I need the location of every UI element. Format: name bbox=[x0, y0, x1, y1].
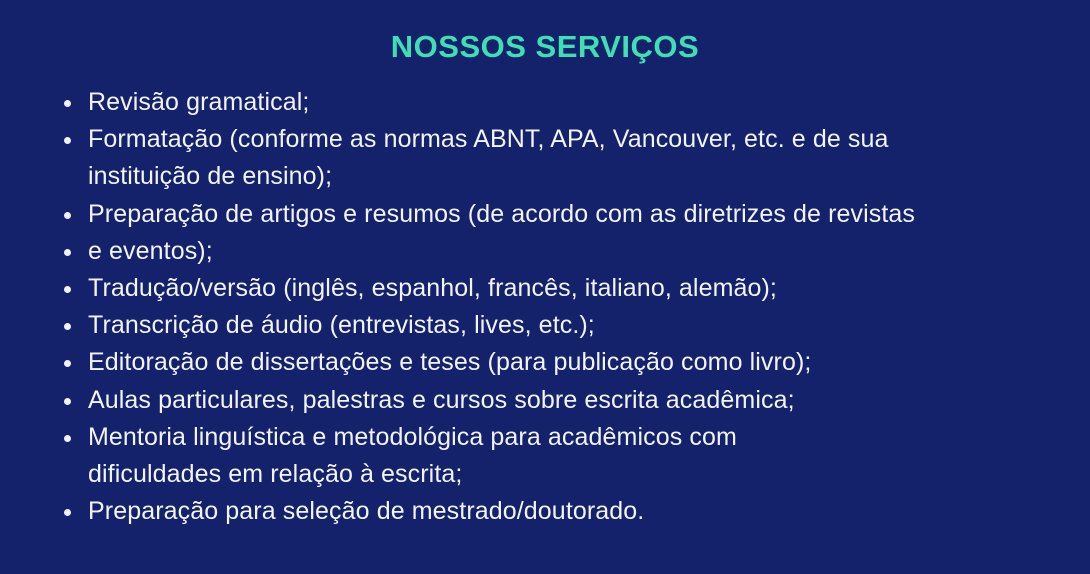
bullet-icon bbox=[64, 398, 71, 405]
bullet-icon bbox=[64, 435, 71, 442]
list-item-label: Editoração de dissertações e teses (para… bbox=[88, 344, 1066, 381]
services-list: Revisão gramatical; Formatação (conforme… bbox=[56, 84, 1066, 530]
list-item: Tradução/versão (inglês, espanhol, franc… bbox=[56, 270, 1066, 307]
list-item-label: Preparação para seleção de mestrado/dout… bbox=[88, 493, 1066, 530]
list-item-continuation: dificuldades em relação à escrita; bbox=[88, 456, 1066, 493]
bullet-icon bbox=[64, 137, 71, 144]
list-item-label: Revisão gramatical; bbox=[88, 84, 1066, 121]
list-item: Editoração de dissertações e teses (para… bbox=[56, 344, 1066, 381]
bullet-icon bbox=[64, 249, 71, 256]
bullet-icon bbox=[64, 509, 71, 516]
list-item-label: Formatação (conforme as normas ABNT, APA… bbox=[88, 121, 1066, 158]
list-item: Revisão gramatical; bbox=[56, 84, 1066, 121]
list-item-label: Aulas particulares, palestras e cursos s… bbox=[88, 382, 1066, 419]
list-item: Transcrição de áudio (entrevistas, lives… bbox=[56, 307, 1066, 344]
list-item: Preparação para seleção de mestrado/dout… bbox=[56, 493, 1066, 530]
bullet-icon bbox=[64, 212, 71, 219]
bullet-icon bbox=[64, 360, 71, 367]
list-item: e eventos); bbox=[56, 233, 1066, 270]
list-item-label: e eventos); bbox=[88, 233, 1066, 270]
bullet-icon bbox=[64, 100, 71, 107]
list-item: Preparação de artigos e resumos (de acor… bbox=[56, 196, 1066, 233]
page-title: NOSSOS SERVIÇOS bbox=[0, 28, 1090, 66]
list-item-label: Preparação de artigos e resumos (de acor… bbox=[88, 196, 1066, 233]
list-item-label: Tradução/versão (inglês, espanhol, franc… bbox=[88, 270, 1066, 307]
list-item: Aulas particulares, palestras e cursos s… bbox=[56, 382, 1066, 419]
bullet-icon bbox=[64, 323, 71, 330]
bullet-icon bbox=[64, 286, 71, 293]
list-item-label: Mentoria linguística e metodológica para… bbox=[88, 419, 1066, 456]
list-item-label: Transcrição de áudio (entrevistas, lives… bbox=[88, 307, 1066, 344]
list-item-continuation: instituição de ensino); bbox=[88, 158, 1066, 195]
list-item: Formatação (conforme as normas ABNT, APA… bbox=[56, 121, 1066, 195]
list-item: Mentoria linguística e metodológica para… bbox=[56, 419, 1066, 493]
presentation-slide: NOSSOS SERVIÇOS Revisão gramatical; Form… bbox=[0, 0, 1090, 574]
